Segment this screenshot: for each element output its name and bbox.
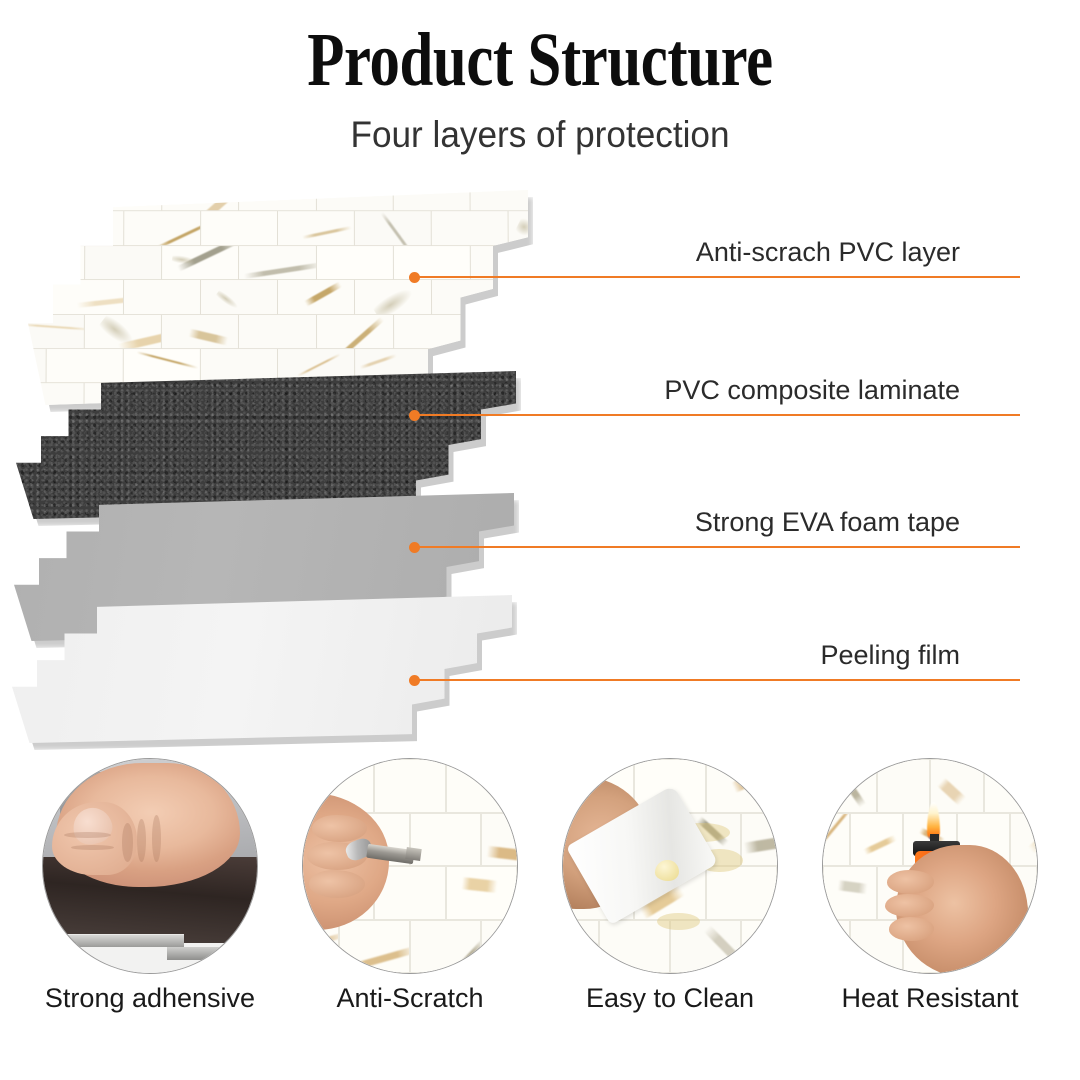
marble-tile — [741, 813, 778, 867]
marble-tile — [741, 920, 778, 974]
marble-tile — [562, 920, 599, 974]
marble-tile — [481, 920, 518, 974]
marble-vein — [562, 921, 599, 960]
marble-tile — [706, 759, 777, 813]
marble-vein — [350, 946, 410, 971]
marble-vein — [837, 770, 866, 808]
marble-vein — [937, 778, 966, 806]
marble-vein — [731, 769, 767, 793]
marble-tile — [850, 813, 904, 867]
marble-vein — [440, 938, 481, 973]
marble-tile — [1037, 866, 1038, 920]
marble-tile — [823, 866, 877, 920]
marble-vein — [744, 833, 778, 854]
marble-tile — [1010, 813, 1038, 867]
marble-tile — [517, 866, 518, 920]
marble-tile — [517, 759, 518, 813]
marble-tile — [706, 866, 777, 920]
feature-photo-circle — [42, 758, 258, 974]
callout-group: Anti-scrach PVC layer PVC composite lami… — [0, 0, 1080, 745]
marble-tile — [599, 920, 670, 974]
marble-vein — [302, 932, 339, 956]
marble-tile — [930, 759, 984, 813]
marble-tile — [1037, 759, 1038, 813]
hand-pressing-tile-photo — [43, 759, 257, 973]
marble-vein — [822, 813, 850, 851]
marble-vein — [1028, 813, 1038, 854]
hand-holding-lit-lighter-photo — [823, 759, 1037, 973]
marble-tile — [374, 759, 445, 813]
marble-tile — [481, 813, 518, 867]
feature-row: Strong adhensive Anti-Scratch — [0, 755, 1080, 1080]
marble-tile — [822, 813, 850, 867]
feature-photo-circle — [562, 758, 778, 974]
feature-caption: Strong adhensive — [30, 983, 270, 1014]
marble-tile — [339, 920, 410, 974]
marble-tile — [823, 759, 877, 813]
callout-label: Anti-scrach PVC layer — [696, 237, 960, 268]
marble-tile — [777, 759, 778, 813]
callout-label: PVC composite laminate — [664, 375, 960, 406]
marble-tile — [410, 813, 481, 867]
marble-vein — [863, 835, 896, 855]
marble-tile — [446, 759, 517, 813]
feature-photo-circle — [822, 758, 1038, 974]
callout-label: Peeling film — [820, 640, 960, 671]
marble-vein — [487, 846, 518, 863]
callout-leader-line — [415, 679, 1020, 681]
callout-leader-line — [415, 414, 1020, 416]
callout-leader-line — [415, 276, 1020, 278]
marble-vein — [822, 935, 841, 948]
feature-photo-circle — [302, 758, 518, 974]
callout-leader-line — [415, 546, 1020, 548]
marble-vein — [837, 881, 867, 895]
feature-caption: Heat Resistant — [810, 983, 1050, 1014]
marble-vein — [461, 877, 497, 893]
marble-tile — [410, 920, 481, 974]
feature-caption: Easy to Clean — [550, 983, 790, 1014]
feature-caption: Anti-Scratch — [290, 983, 530, 1014]
marble-tile — [877, 759, 931, 813]
hand-wiping-tile-with-towel-photo — [563, 759, 777, 973]
marble-vein — [752, 951, 778, 957]
hand-with-key-scratching-tile-photo — [303, 759, 517, 973]
marble-tile — [984, 759, 1038, 813]
marble-vein — [704, 926, 741, 973]
marble-tile — [777, 866, 778, 920]
callout-label: Strong EVA foam tape — [695, 507, 960, 538]
marble-tile — [446, 866, 517, 920]
marble-tile — [822, 920, 850, 974]
